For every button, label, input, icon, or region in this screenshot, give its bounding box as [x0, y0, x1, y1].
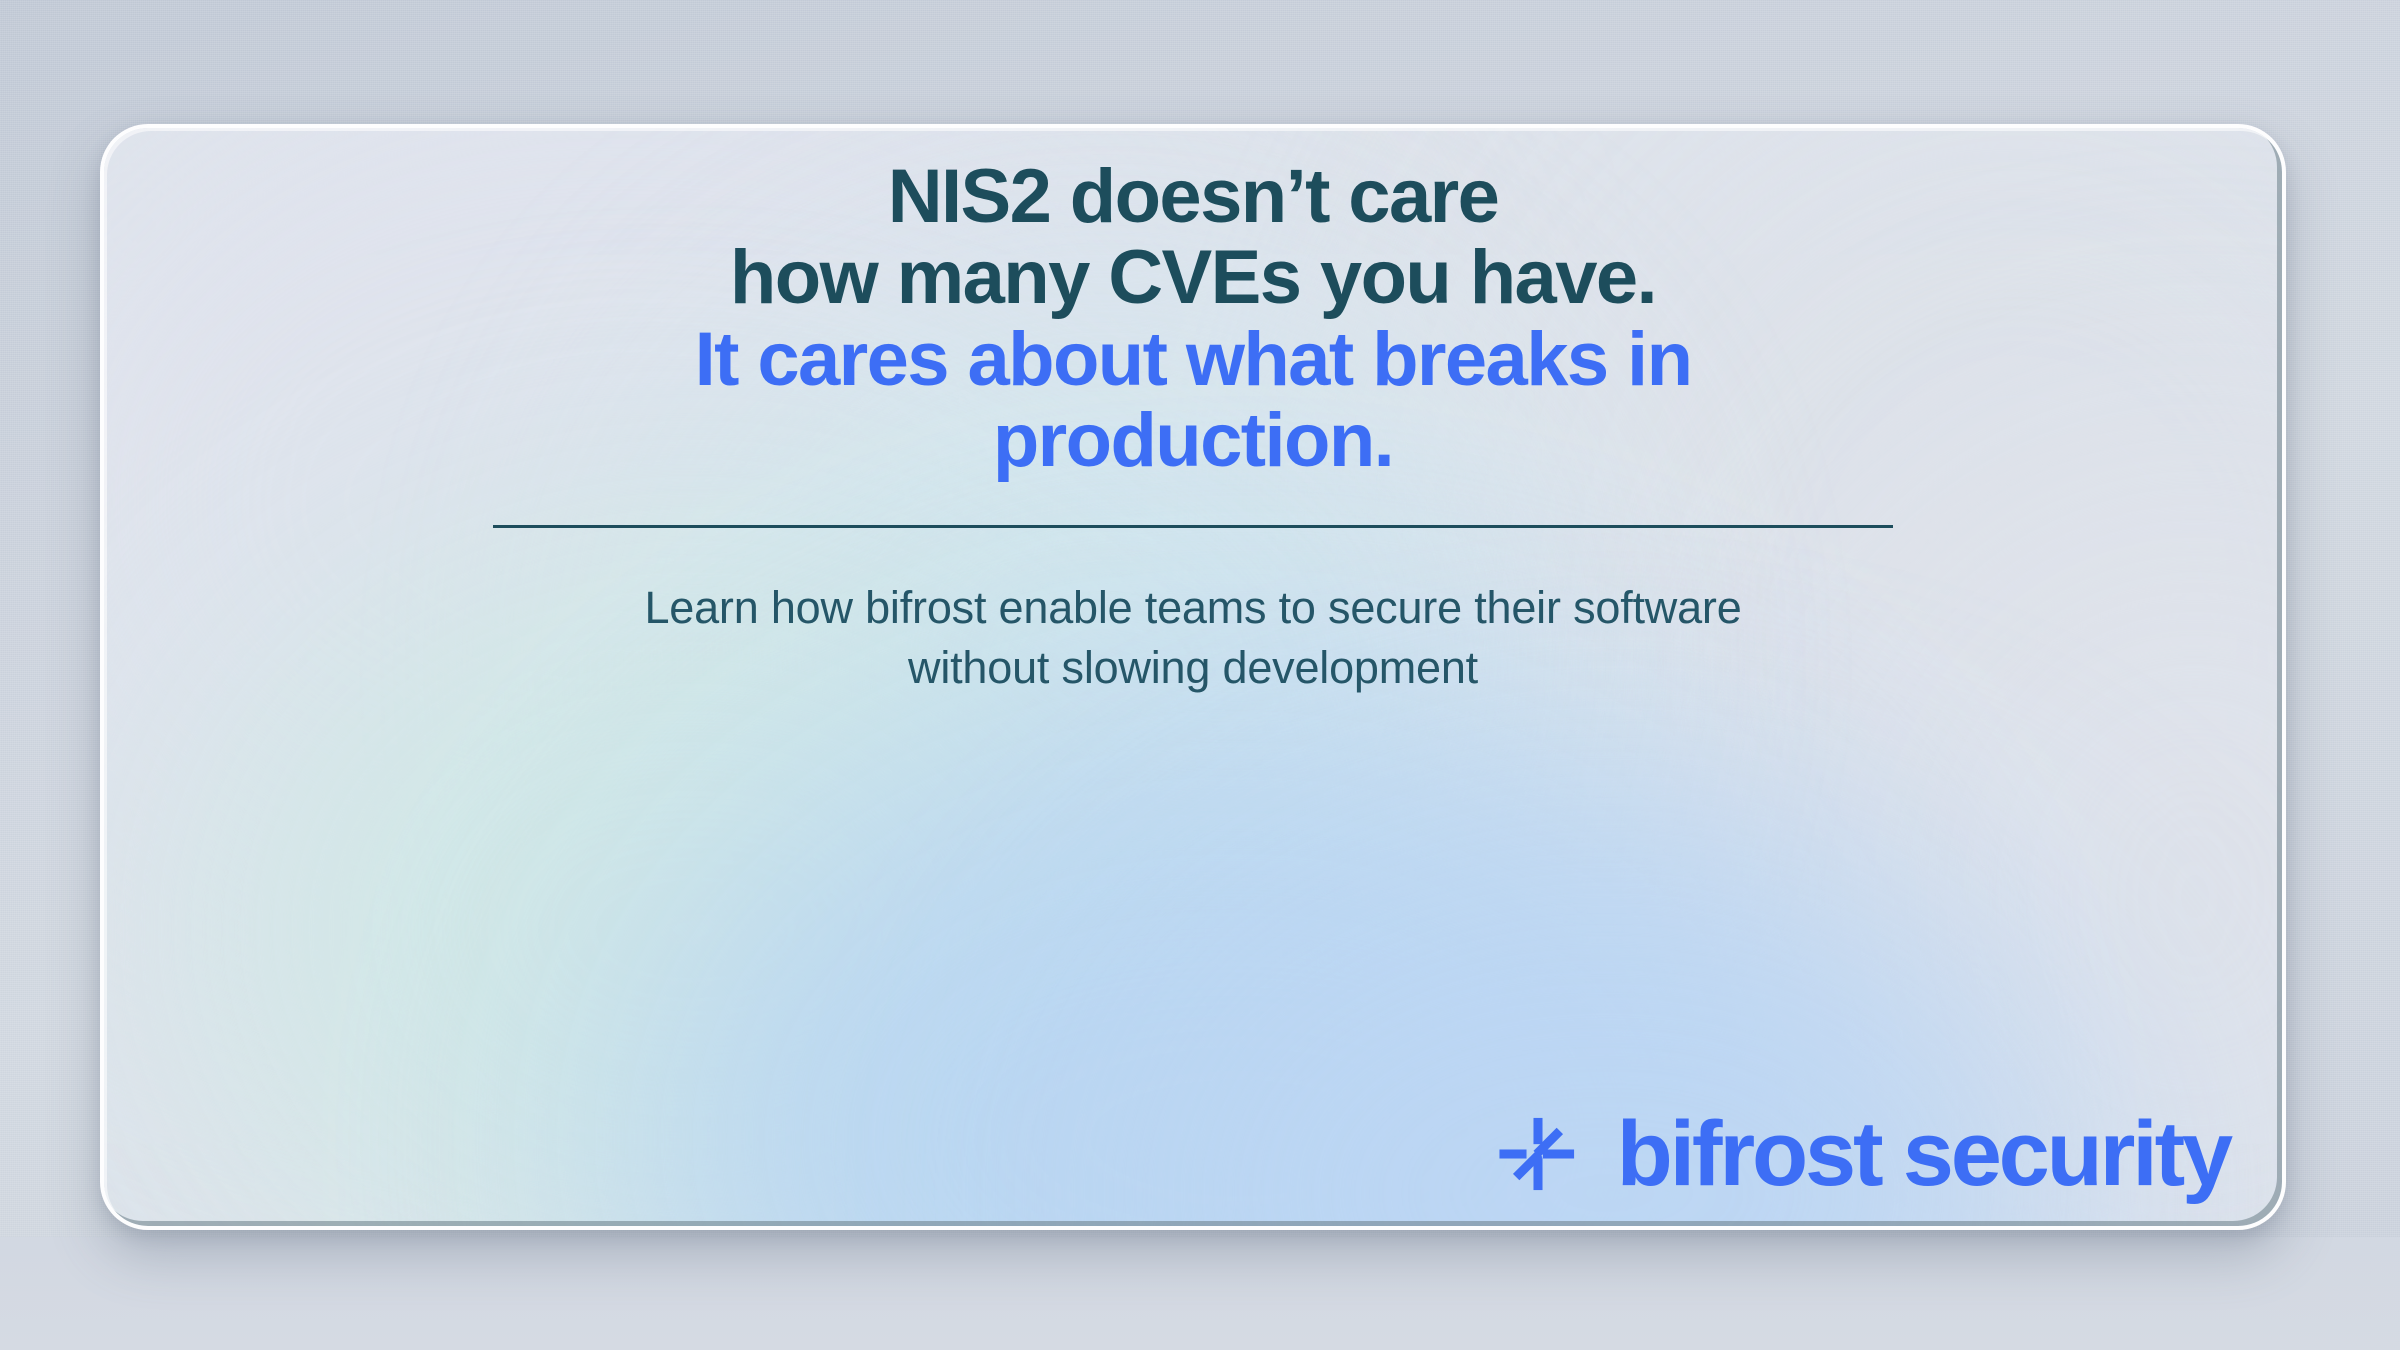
- poster-canvas: NIS2 doesn’t care how many CVEs you have…: [0, 0, 2400, 1350]
- promo-card: NIS2 doesn’t care how many CVEs you have…: [100, 124, 2286, 1230]
- subtitle-line-1: Learn how bifrost enable teams to secure…: [104, 578, 2282, 638]
- section-divider: [493, 525, 1893, 528]
- backdrop-smooth-band: [0, 1237, 2400, 1350]
- headline: NIS2 doesn’t care how many CVEs you have…: [104, 156, 2282, 481]
- headline-line-2: how many CVEs you have.: [104, 237, 2282, 318]
- bifrost-converging-asterisk-icon: [1497, 1113, 1579, 1195]
- headline-line-4: production.: [104, 400, 2282, 481]
- subtitle: Learn how bifrost enable teams to secure…: [104, 578, 2282, 698]
- brand-lockup: bifrost security: [1497, 1108, 2230, 1200]
- card-content: NIS2 doesn’t care how many CVEs you have…: [104, 128, 2282, 1226]
- headline-line-1: NIS2 doesn’t care: [104, 156, 2282, 237]
- brand-wordmark: bifrost security: [1617, 1108, 2230, 1200]
- subtitle-line-2: without slowing development: [104, 638, 2282, 698]
- headline-line-3: It cares about what breaks in: [104, 319, 2282, 400]
